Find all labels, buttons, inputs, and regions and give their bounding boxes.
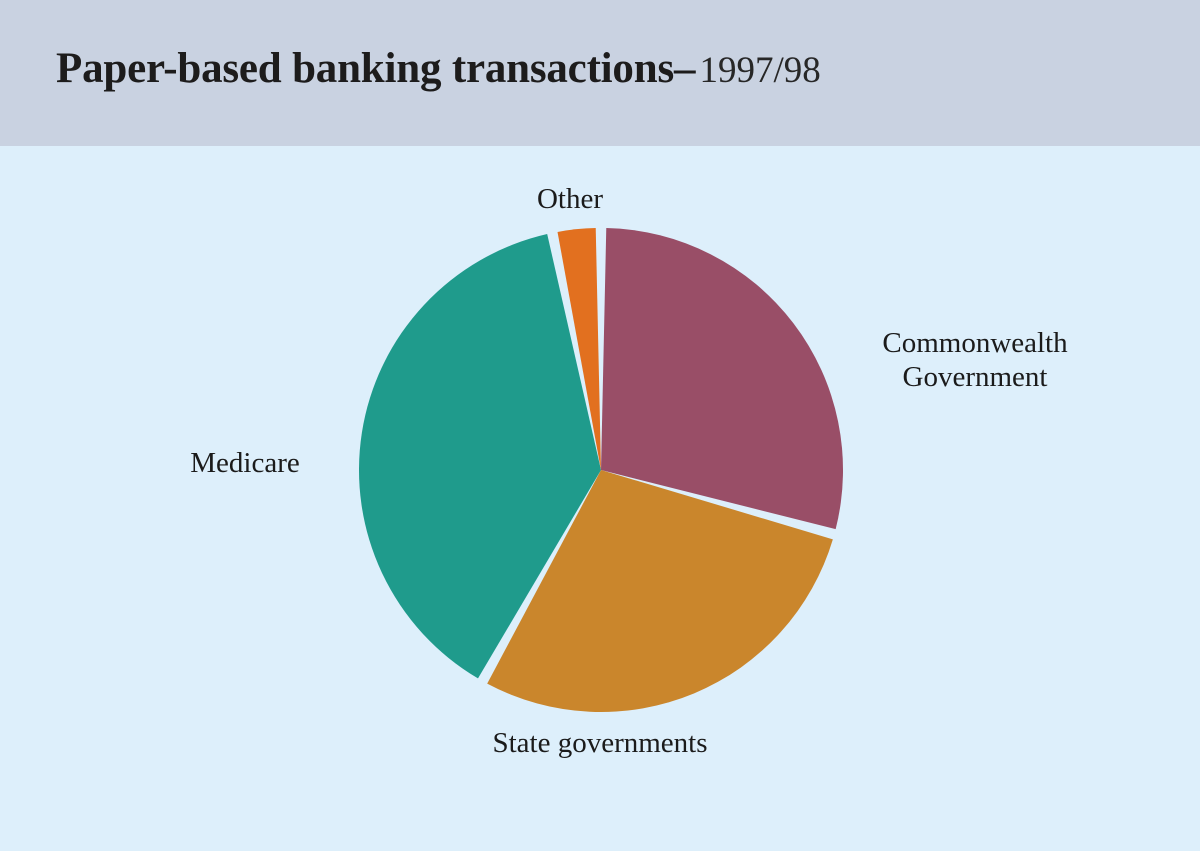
pie-label-medicare-text: Medicare [190,447,300,479]
pie-label-other: Other [450,182,690,216]
pie-label-commonwealth-line2: Government [830,360,1120,394]
title-period-text: 1997/98 [699,50,820,91]
pie-slice-group [359,228,843,712]
slide-root: Paper-based banking transactions–1997/98… [0,0,1200,851]
pie-label-commonwealth-line1: Commonwealth [830,326,1120,360]
pie-chart: Other Commonwealth Government Medicare S… [0,146,1200,851]
chart-area: Other Commonwealth Government Medicare S… [0,146,1200,851]
title-band: Paper-based banking transactions–1997/98 [0,0,1200,146]
pie-label-other-text: Other [537,183,603,215]
page-title: Paper-based banking transactions–1997/98 [56,44,821,93]
pie-label-medicare: Medicare [130,446,360,480]
pie-label-commonwealth-government: Commonwealth Government [830,326,1120,394]
title-main-text: Paper-based banking transactions [56,45,674,92]
pie-label-state-governments: State governments [400,726,800,760]
pie-label-state-text: State governments [492,727,707,759]
title-dash: – [674,45,696,92]
